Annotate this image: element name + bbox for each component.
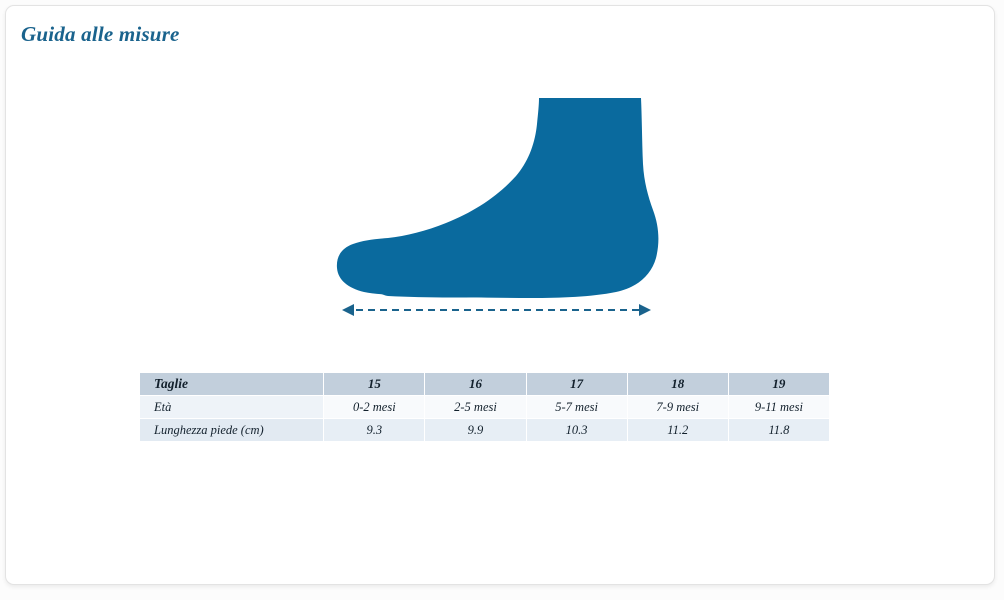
row-label-eta: Età (140, 396, 323, 418)
size-guide-card: Guida alle misure Taglie (5, 5, 995, 585)
header-size-16: 16 (425, 373, 525, 395)
cell-eta-19: 9-11 mesi (729, 396, 829, 418)
row-label-lunghezza-piede: Lunghezza piede (cm) (140, 419, 323, 441)
cell-lunghezza-15: 9.3 (324, 419, 424, 441)
header-size-17: 17 (527, 373, 627, 395)
cell-eta-15: 0-2 mesi (324, 396, 424, 418)
header-size-15: 15 (324, 373, 424, 395)
header-size-18: 18 (628, 373, 728, 395)
table-header-row: Taglie 15 16 17 18 19 (140, 373, 829, 395)
arrowhead-right-icon (639, 304, 651, 316)
cell-lunghezza-17: 10.3 (527, 419, 627, 441)
cell-lunghezza-16: 9.9 (425, 419, 525, 441)
size-table-header: Taglie 15 16 17 18 19 (140, 373, 829, 395)
header-size-19: 19 (729, 373, 829, 395)
table-row: Lunghezza piede (cm) 9.3 9.9 10.3 11.2 1… (140, 419, 829, 441)
size-guide-page: Guida alle misure Taglie (0, 0, 1004, 600)
cell-eta-16: 2-5 mesi (425, 396, 525, 418)
cell-lunghezza-18: 11.2 (628, 419, 728, 441)
foot-length-dimension-arrow (326, 298, 671, 328)
arrowhead-left-icon (342, 304, 354, 316)
size-table-body: Età 0-2 mesi 2-5 mesi 5-7 mesi 7-9 mesi … (140, 396, 829, 441)
cell-eta-18: 7-9 mesi (628, 396, 728, 418)
foot-illustration (326, 86, 671, 326)
cell-eta-17: 5-7 mesi (527, 396, 627, 418)
table-row: Età 0-2 mesi 2-5 mesi 5-7 mesi 7-9 mesi … (140, 396, 829, 418)
header-taglie: Taglie (140, 373, 323, 395)
page-title: Guida alle misure (21, 22, 180, 47)
cell-lunghezza-19: 11.8 (729, 419, 829, 441)
foot-side-silhouette-icon (326, 86, 671, 326)
size-table: Taglie 15 16 17 18 19 Età 0-2 mesi 2-5 m… (139, 372, 830, 442)
